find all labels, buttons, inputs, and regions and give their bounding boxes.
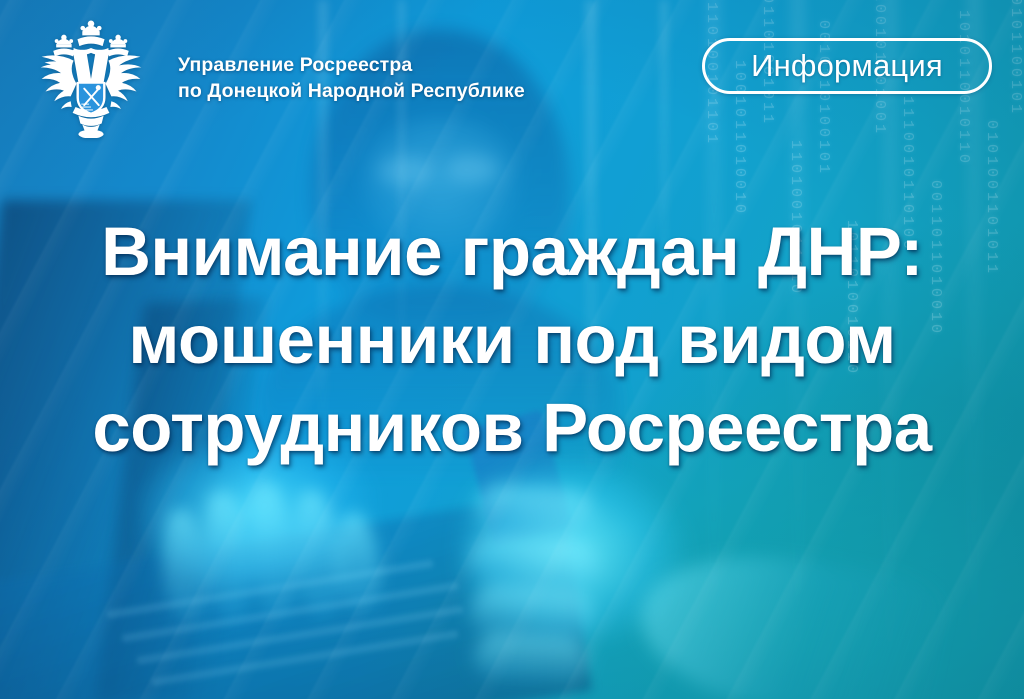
header: Управление Росреестра по Донецкой Народн…: [18, 18, 525, 138]
figure-eye-left: [378, 156, 432, 186]
information-badge-label: Информация: [751, 48, 943, 84]
information-badge[interactable]: Информация: [702, 38, 992, 94]
information-banner: 0110100101101 1001011010010 010110100101…: [0, 0, 1024, 699]
org-line-2: по Донецкой Народной Республике: [178, 78, 525, 104]
headline-line-1: Внимание граждан ДНР:: [26, 208, 998, 296]
org-line-1: Управление Росреестра: [178, 52, 525, 78]
headline-line-3: сотрудников Росреестра: [26, 384, 998, 472]
finger: [473, 631, 590, 687]
headline: Внимание граждан ДНР: мошенники под видо…: [0, 208, 1024, 472]
rosreestr-eagle-logo-icon: [18, 18, 164, 138]
figure-eye-right: [446, 154, 500, 184]
organization-name: Управление Росреестра по Донецкой Народн…: [178, 52, 525, 104]
headline-line-2: мошенники под видом: [26, 296, 998, 384]
